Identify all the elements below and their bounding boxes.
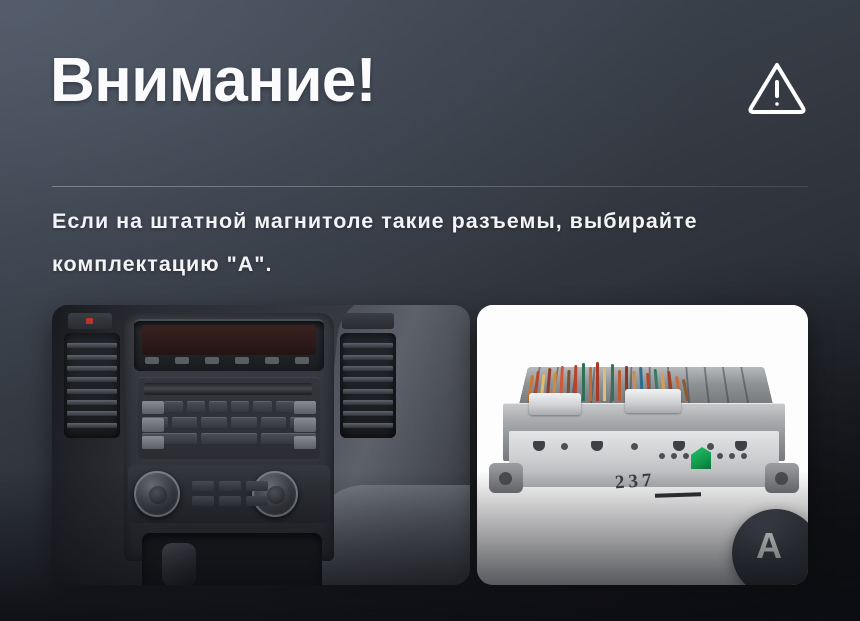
connector-block-left [529,393,581,415]
car-dashboard-photo [52,305,470,585]
display-button-row [138,357,316,366]
handwritten-underline [655,492,701,498]
head-unit-photo: 237 A [477,305,808,585]
gear-shifter [162,543,196,585]
radio-button-row-3 [142,433,316,444]
aux-button-panel [342,313,394,329]
display-screen [142,325,316,355]
radio-button-row-2 [142,417,316,428]
vent-hole-1 [561,443,568,450]
vent-hole-7 [717,453,723,459]
vent-hole-6 [683,453,689,459]
vent-hole-3 [707,443,714,450]
dashboard-scene [52,305,470,585]
vent-hole-4 [659,453,665,459]
radio-side-buttons-right [294,401,316,449]
slide-root: Внимание! Если на штатной магнитоле таки… [0,0,860,621]
climate-button-grid [192,481,272,506]
vent-hole-5 [671,453,677,459]
connector-block-right [625,389,681,413]
photo-row: 237 A [52,305,808,585]
hazard-button [68,313,112,329]
radio-side-buttons-left [142,401,164,449]
climate-knob-left [134,471,180,517]
vent-hole-2 [631,443,638,450]
page-title: Внимание! [50,50,376,112]
cd-slot [144,383,312,395]
handwritten-marking: 237 [614,470,656,495]
header-divider [52,186,808,187]
air-vent-right [340,333,396,438]
air-vent-left [64,333,120,438]
mounting-bracket-left [489,463,523,493]
vent-hole-8 [729,453,735,459]
warning-message: Если на штатной магнитоле такие разъемы,… [52,200,824,286]
radio-button-row-1 [142,401,316,412]
mounting-bracket-right [765,463,799,493]
vent-hole-9 [741,453,747,459]
warning-triangle-icon [746,58,808,116]
variant-badge-label: A [756,525,782,567]
radio-head-unit: 237 [503,359,785,511]
